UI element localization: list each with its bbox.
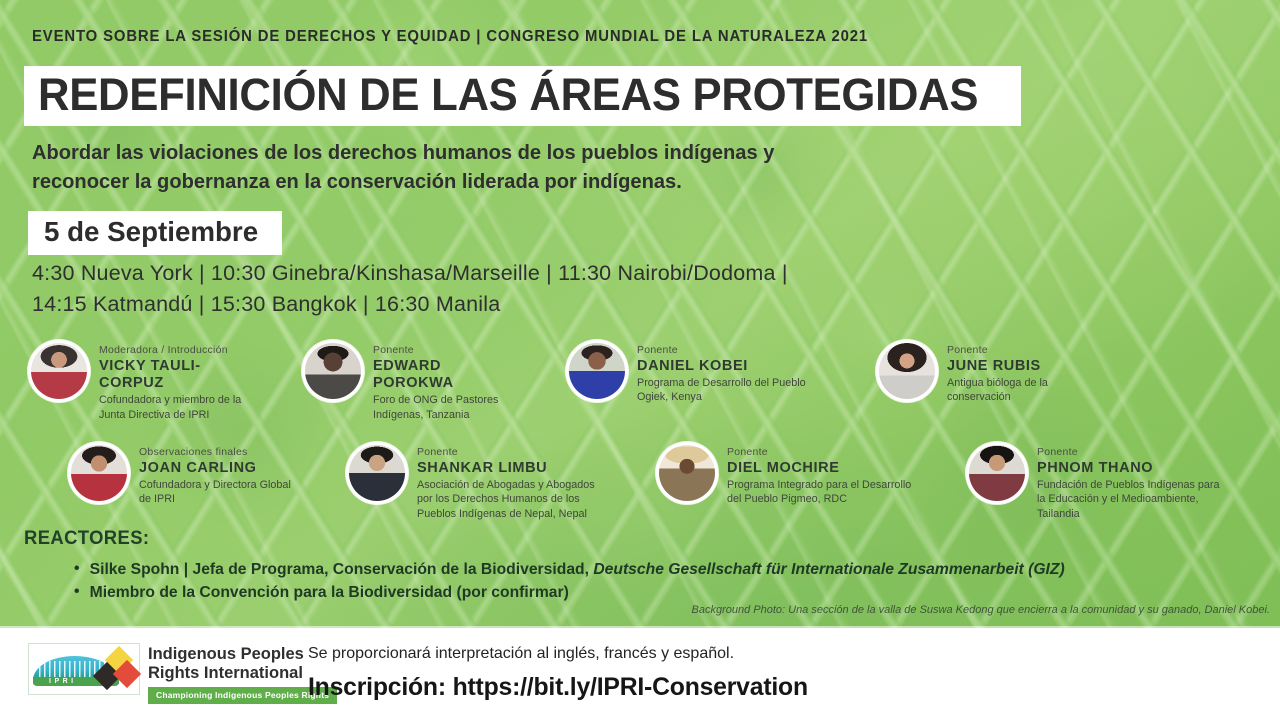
list-item: Miembro de la Convención para la Biodive… (72, 581, 1065, 604)
speaker-org-line-1: Foro de ONG de Pastores (373, 393, 498, 407)
list-item: Silke Spohn | Jefa de Programa, Conserva… (72, 558, 1065, 581)
speaker-role: Ponente (1037, 446, 1219, 459)
interpretation-note: Se proporcionará interpretación al inglé… (308, 645, 734, 663)
avatar (68, 442, 130, 504)
avatar (566, 340, 628, 402)
speaker-role: Ponente (417, 446, 595, 459)
speaker-card: Ponente SHANKAR LIMBU Asociación de Abog… (346, 442, 636, 521)
speaker-role: Ponente (727, 446, 911, 459)
speaker-card: Ponente PHNOM THANO Fundación de Pueblos… (966, 442, 1266, 521)
ipri-logo: IPRI Indigenous Peoples Rights Internati… (28, 643, 282, 707)
speaker-org: Programa Integrado para el Desarrollo de… (727, 478, 911, 507)
avatar (28, 340, 90, 402)
speaker-name-line-2: POROKWA (373, 375, 498, 392)
speaker-name-line-1: EDWARD (373, 358, 498, 375)
speaker-card: Ponente EDWARD POROKWA Foro de ONG de Pa… (302, 340, 572, 422)
speaker-name: JOAN CARLING (139, 460, 291, 477)
speaker-card: Ponente JUNE RUBIS Antigua bióloga de la… (876, 340, 1166, 405)
speaker-name: EDWARD POROKWA (373, 358, 498, 392)
speaker-name: SHANKAR LIMBU (417, 460, 595, 477)
speaker-org: Cofundadora y miembro de la Junta Direct… (99, 393, 241, 422)
speaker-org: Foro de ONG de Pastores Indígenas, Tanza… (373, 393, 498, 422)
page-title: REDEFINICIÓN DE LAS ÁREAS PROTEGIDAS (38, 72, 978, 117)
speaker-role: Moderadora / Introducción (99, 344, 241, 357)
event-date: 5 de Septiembre (44, 216, 258, 248)
speaker-org-line-1: Programa Integrado para el Desarrollo (727, 478, 911, 492)
subtitle-line-2: reconocer la gobernanza en la conservaci… (32, 167, 973, 196)
reactores-heading: REACTORES: (24, 528, 149, 550)
times-line-2: 14:15 Katmandú | 15:30 Bangkok | 16:30 M… (32, 289, 1132, 320)
speaker-name: VICKY TAULI- CORPUZ (99, 358, 241, 392)
speaker-org-line-1: Cofundadora y Directora Global (139, 478, 291, 492)
speaker-org-line-2: de IPRI (139, 492, 291, 506)
speaker-name: DANIEL KOBEI (637, 358, 806, 375)
speaker-role: Ponente (947, 344, 1048, 357)
speaker-role: Ponente (373, 344, 498, 357)
speaker-org-line-2: conservación (947, 390, 1048, 404)
speaker-org-line-2: Indígenas, Tanzania (373, 408, 498, 422)
page-subtitle: Abordar las violaciones de los derechos … (32, 138, 973, 196)
photo-credit: Background Photo: Una sección de la vall… (692, 604, 1271, 616)
speaker-role: Observaciones finales (139, 446, 291, 459)
event-eyebrow: EVENTO SOBRE LA SESIÓN DE DERECHOS Y EQU… (32, 28, 868, 46)
speaker-org-line-2: Ogiek, Kenya (637, 390, 806, 404)
speaker-org-line-3: Pueblos Indígenas de Nepal, Nepal (417, 507, 595, 521)
speaker-name-line-1: PHNOM THANO (1037, 460, 1219, 477)
speaker-name-line-2: CORPUZ (99, 375, 241, 392)
ipri-logo-mark-icon: IPRI (28, 643, 140, 695)
speaker-org-line-1: Cofundadora y miembro de la (99, 393, 241, 407)
speaker-org: Asociación de Abogadas y Abogados por lo… (417, 478, 595, 521)
reactores-list: Silke Spohn | Jefa de Programa, Conserva… (72, 558, 1085, 604)
speaker-org: Antigua bióloga de la conservación (947, 376, 1048, 405)
speaker-name-line-1: JUNE RUBIS (947, 358, 1048, 375)
speaker-name: DIEL MOCHIRE (727, 460, 911, 477)
speaker-role: Ponente (637, 344, 806, 357)
speaker-card: Ponente DIEL MOCHIRE Programa Integrado … (656, 442, 956, 507)
speaker-org: Cofundadora y Directora Global de IPRI (139, 478, 291, 507)
speaker-org-line-2: Junta Directiva de IPRI (99, 408, 241, 422)
speaker-org-line-2: por los Derechos Humanos de los (417, 492, 595, 506)
speaker-org-line-1: Antigua bióloga de la (947, 376, 1048, 390)
times-line-1: 4:30 Nueva York | 10:30 Ginebra/Kinshasa… (32, 258, 1132, 289)
registration-link[interactable]: Inscripción: https://bit.ly/IPRI-Conserv… (308, 673, 808, 702)
reactor-text: Miembro de la Convención para la Biodive… (90, 584, 569, 601)
speaker-name-line-1: DANIEL KOBEI (637, 358, 806, 375)
speaker-card: Ponente DANIEL KOBEI Programa de Desarro… (566, 340, 856, 405)
speaker-org-line-1: Asociación de Abogadas y Abogados (417, 478, 595, 492)
speaker-card: Moderadora / Introducción VICKY TAULI- C… (28, 340, 308, 422)
speaker-org-line-2: del Pueblo Pigmeo, RDC (727, 492, 911, 506)
avatar (966, 442, 1028, 504)
speaker-name: PHNOM THANO (1037, 460, 1219, 477)
speaker-org-line-1: Fundación de Pueblos Indígenas para (1037, 478, 1219, 492)
avatar (656, 442, 718, 504)
speaker-org-line-1: Programa de Desarrollo del Pueblo (637, 376, 806, 390)
subtitle-line-1: Abordar las violaciones de los derechos … (32, 138, 973, 167)
ipri-monogram: IPRI (49, 678, 77, 685)
avatar (346, 442, 408, 504)
avatar (876, 340, 938, 402)
speaker-org: Fundación de Pueblos Indígenas para la E… (1037, 478, 1219, 521)
page-title-band: REDEFINICIÓN DE LAS ÁREAS PROTEGIDAS (24, 66, 1021, 126)
event-poster: EVENTO SOBRE LA SESIÓN DE DERECHOS Y EQU… (0, 0, 1280, 720)
event-date-band: 5 de Septiembre (28, 211, 282, 255)
speaker-card: Observaciones finales JOAN CARLING Cofun… (68, 442, 348, 507)
event-times: 4:30 Nueva York | 10:30 Ginebra/Kinshasa… (32, 258, 1132, 319)
speaker-name-line-1: DIEL MOCHIRE (727, 460, 911, 477)
speaker-name-line-1: VICKY TAULI- (99, 358, 241, 375)
reactor-org-italic: Deutsche Gesellschaft für Internationale… (593, 561, 1064, 578)
speaker-org-line-2: la Educación y el Medioambiente, (1037, 492, 1219, 506)
speaker-name-line-1: SHANKAR LIMBU (417, 460, 595, 477)
speaker-org: Programa de Desarrollo del Pueblo Ogiek,… (637, 376, 806, 405)
reactor-text: Silke Spohn | Jefa de Programa, Conserva… (90, 561, 594, 578)
speaker-org-line-3: Tailandia (1037, 507, 1219, 521)
speaker-name-line-1: JOAN CARLING (139, 460, 291, 477)
speaker-name: JUNE RUBIS (947, 358, 1048, 375)
avatar (302, 340, 364, 402)
